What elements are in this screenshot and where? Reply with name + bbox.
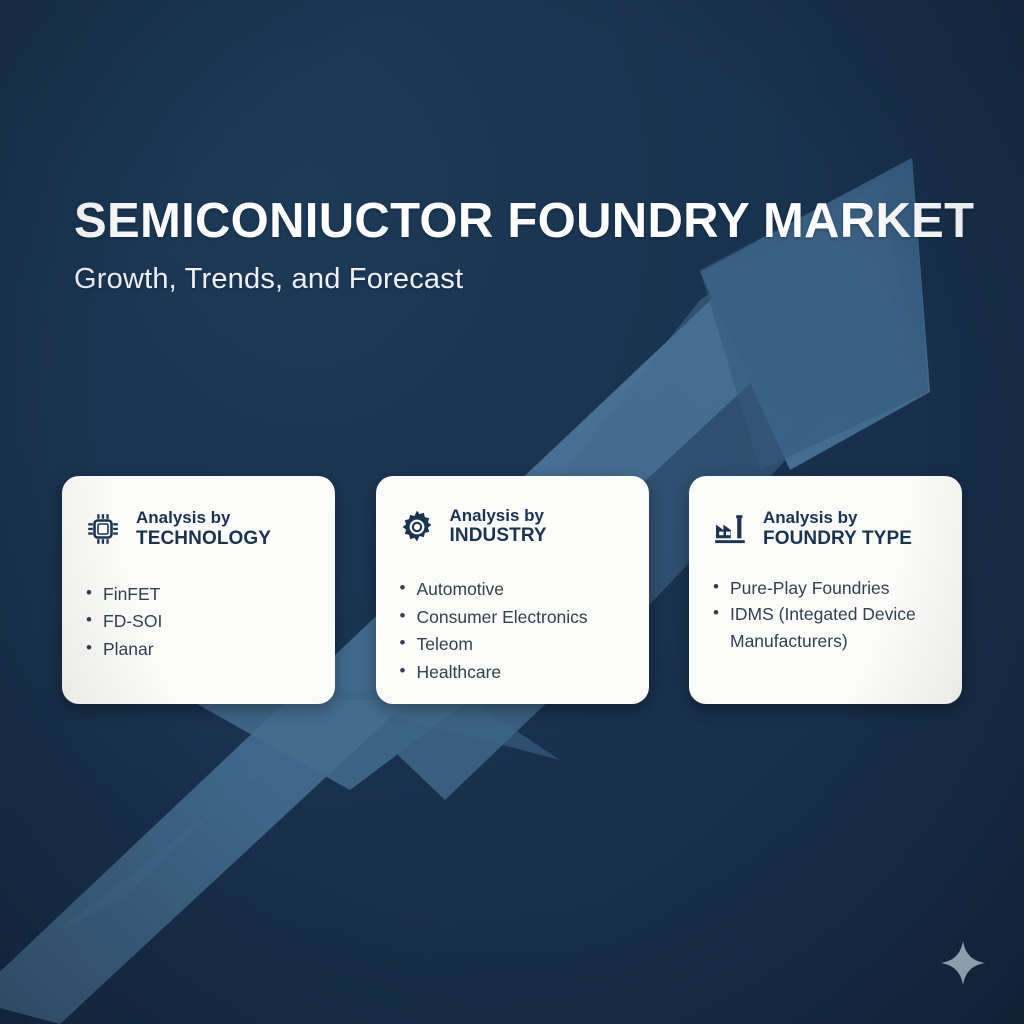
card-title: Analysis by FOUNDRY TYPE <box>763 508 912 550</box>
page-subtitle: Growth, Trends, and Forecast <box>74 263 954 296</box>
list-item: Pure-Play Foundries <box>711 575 942 601</box>
card-title-line2: FOUNDRY TYPE <box>763 528 912 550</box>
card-title-line2: INDUSTRY <box>450 525 547 547</box>
card-header: Analysis by INDUSTRY <box>398 503 629 550</box>
list-item: FinFET <box>84 581 315 608</box>
factory-icon <box>711 510 749 548</box>
list-item: Automotive <box>398 576 629 603</box>
card-title: Analysis by TECHNOLOGY <box>136 508 271 550</box>
card-title-line1: Analysis by <box>136 508 271 528</box>
card-title-line1: Analysis by <box>450 506 547 526</box>
list-item: Planar <box>84 636 315 663</box>
card-analysis-by-foundry-type[interactable]: Analysis by FOUNDRY TYPE Pure-Play Found… <box>689 476 962 704</box>
list-item: Teleom <box>398 631 629 658</box>
sparkle-icon <box>938 938 988 988</box>
card-header: Analysis by FOUNDRY TYPE <box>711 503 942 555</box>
infographic-poster: SEMICONIUCTOR FOUNDRY MARKET Growth, Tre… <box>0 0 1024 1024</box>
card-title-line2: TECHNOLOGY <box>136 528 271 550</box>
card-item-list: Automotive Consumer Electronics Teleom H… <box>398 576 629 686</box>
card-title: Analysis by INDUSTRY <box>450 506 547 548</box>
card-analysis-by-industry[interactable]: Analysis by INDUSTRY Automotive Consumer… <box>376 476 649 704</box>
gear-icon <box>398 508 436 546</box>
analysis-cards-row: Analysis by TECHNOLOGY FinFET FD-SOI Pla… <box>62 476 962 704</box>
list-item: IDMS (Integated Device Manufacturers) <box>711 601 942 654</box>
list-item: FD-SOI <box>84 608 315 635</box>
list-item: Healthcare <box>398 659 629 686</box>
page-title: SEMICONIUCTOR FOUNDRY MARKET <box>74 196 954 247</box>
header: SEMICONIUCTOR FOUNDRY MARKET Growth, Tre… <box>74 196 954 296</box>
card-item-list: Pure-Play Foundries IDMS (Integated Devi… <box>711 575 942 654</box>
card-header: Analysis by TECHNOLOGY <box>84 503 315 555</box>
card-title-line1: Analysis by <box>763 508 912 528</box>
card-analysis-by-technology[interactable]: Analysis by TECHNOLOGY FinFET FD-SOI Pla… <box>62 476 335 704</box>
microchip-icon <box>84 510 122 548</box>
list-item: Consumer Electronics <box>398 604 629 631</box>
card-item-list: FinFET FD-SOI Planar <box>84 581 315 663</box>
